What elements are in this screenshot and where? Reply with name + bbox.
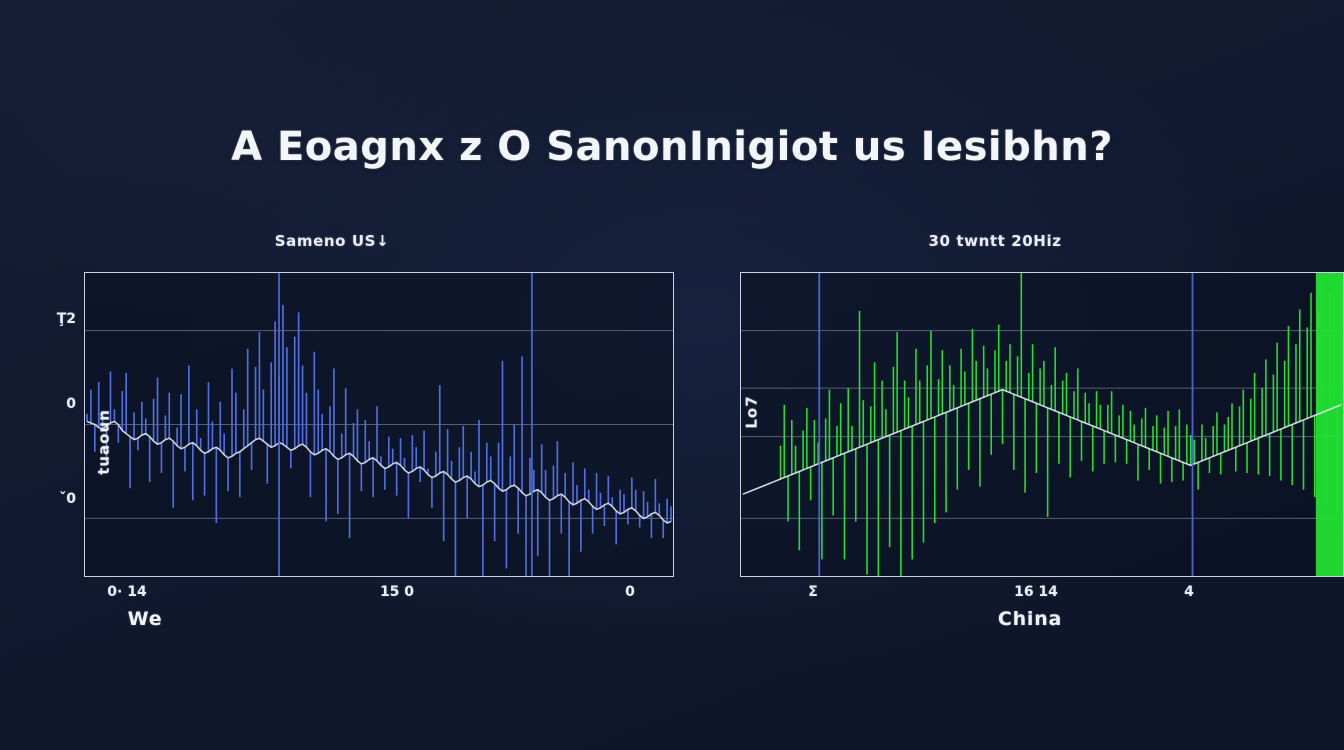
y-tick-left-2: ˇ0 (59, 491, 76, 507)
figure-title: A Eoagnx z O SanonInigiot us Iesibhn? (0, 124, 1344, 170)
plot-area-right[interactable]: Lo7 Ʃ 16 14 4 China ωɣ (740, 272, 1344, 577)
x-tick-right-0: Ʃ (808, 584, 818, 600)
chart-right (741, 273, 1343, 576)
x-tick-left-0: 0· 14 (107, 584, 146, 600)
x-axis-label-left: We (0, 608, 439, 630)
x-tick-left-1: 15 0 (380, 584, 414, 600)
y-axis-label-left: tuaoun (95, 409, 113, 475)
x-axis-label-right: China (729, 608, 1331, 630)
x-tick-right-1: 16 14 (1014, 584, 1058, 600)
y-tick-left-0: Ţ2 (57, 311, 76, 327)
chart-left (85, 273, 673, 576)
x-tick-right-2: 4 (1184, 584, 1194, 600)
y-tick-left-1: 0 (66, 396, 76, 412)
figure-canvas: A Eoagnx z O SanonInigiot us Iesibhn? Sa… (0, 0, 1344, 750)
plot-area-left[interactable]: tuaoun Ţ2 0 ˇ0 0· 14 15 0 0 We (84, 272, 674, 577)
panel-right-title: 30 twntt 20Hiz (661, 232, 1329, 250)
x-tick-left-2: 0 (625, 584, 635, 600)
y-axis-label-right: Lo7 (743, 395, 761, 428)
panel-left-title: Sameno US↓ (2, 232, 662, 250)
